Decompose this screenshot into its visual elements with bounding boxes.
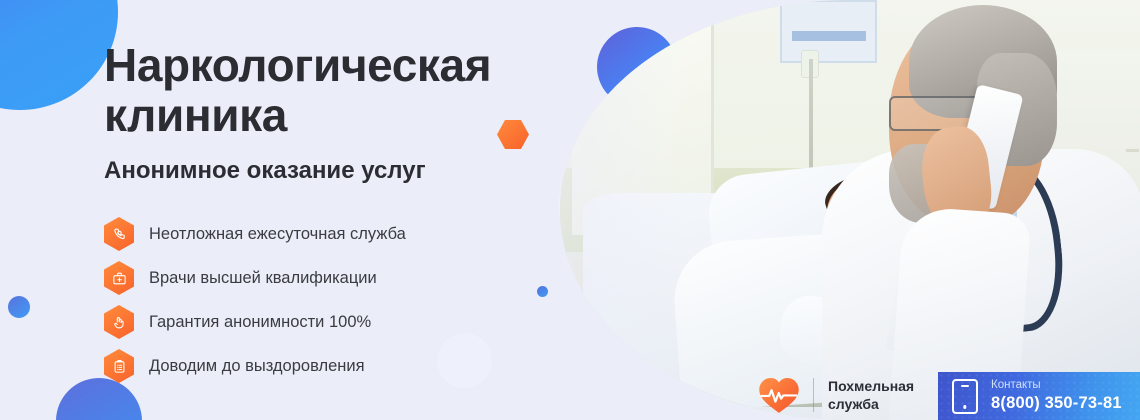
hand-pledge-icon: [104, 305, 134, 339]
heart-pulse-icon: [757, 374, 801, 416]
feature-list: Неотложная ежесуточная служба Врачи высш…: [104, 212, 534, 388]
logo-text: Похмельная служба: [828, 377, 914, 413]
page-title-line-2: клиника: [104, 89, 287, 141]
contacts-block[interactable]: Контакты 8(800) 350-73-81: [938, 372, 1140, 420]
phone-speaker: [961, 385, 969, 388]
phone-home-button: [963, 405, 966, 408]
list-item-label: Доводим до выздоровления: [149, 357, 365, 376]
promo-banner: Наркологическая клиника Анонимное оказан…: [0, 0, 1140, 420]
hero-photo: [560, 0, 1140, 420]
logo-text-line-2: служба: [828, 396, 879, 412]
doctor-figure: [815, 0, 1140, 420]
clipboard-icon: [104, 349, 134, 383]
list-item: Неотложная ежесуточная служба: [104, 212, 534, 256]
contacts-texts: Контакты 8(800) 350-73-81: [991, 379, 1122, 413]
phone-call-icon: [104, 217, 134, 251]
page-title: Наркологическая клиника: [104, 40, 534, 140]
contacts-label: Контакты: [991, 379, 1122, 392]
list-item: Врачи высшей квалификации: [104, 256, 534, 300]
logo-divider: [813, 378, 814, 412]
hero-content: Наркологическая клиника Анонимное оказан…: [104, 40, 534, 388]
medical-bag-icon: [104, 261, 134, 295]
mobile-phone-icon: [952, 379, 978, 414]
page-title-line-1: Наркологическая: [104, 39, 491, 91]
list-item: Гарантия анонимности 100%: [104, 300, 534, 344]
list-item-label: Неотложная ежесуточная служба: [149, 225, 406, 244]
decorative-circle-top-left: [0, 0, 118, 110]
list-item-label: Врачи высшей квалификации: [149, 269, 377, 288]
decorative-dot-left: [8, 296, 30, 318]
logo-text-line-1: Похмельная: [828, 378, 914, 394]
decorative-dot-center: [537, 286, 548, 297]
brand-logo[interactable]: Похмельная служба: [757, 374, 914, 416]
hero-photo-scene: [560, 0, 1140, 420]
list-item-label: Гарантия анонимности 100%: [149, 313, 371, 332]
list-item: Доводим до выздоровления: [104, 344, 534, 388]
contacts-phone-number[interactable]: 8(800) 350-73-81: [991, 394, 1122, 413]
page-subtitle: Анонимное оказание услуг: [104, 156, 534, 186]
